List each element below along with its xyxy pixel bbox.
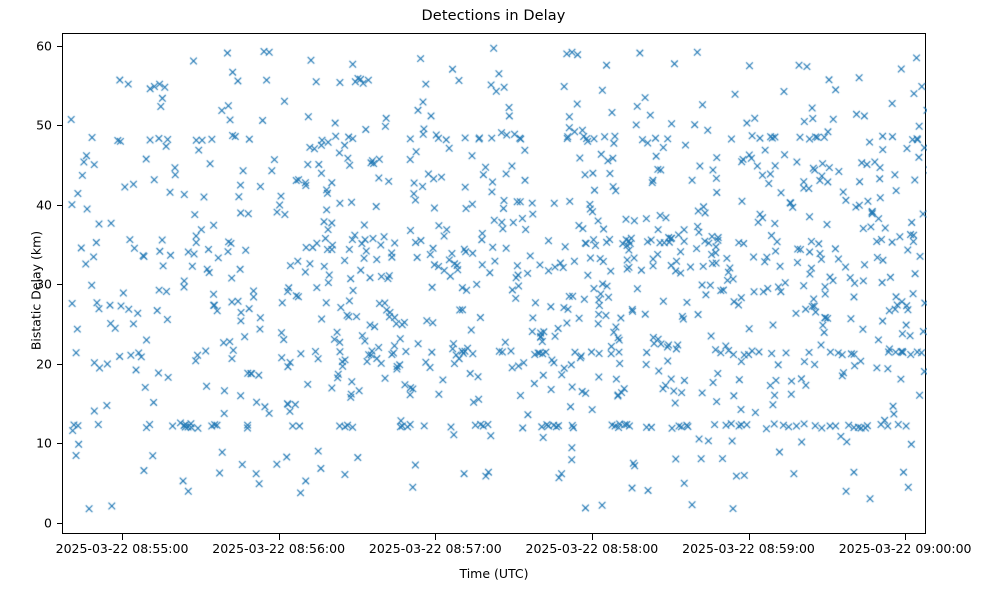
x-tick-label: 2025-03-22 08:55:00 <box>56 541 189 556</box>
x-tick-mark <box>592 534 593 540</box>
y-tick-label: 60 <box>36 38 52 53</box>
x-tick-mark <box>749 534 750 540</box>
y-axis-label: Bistatic Delay (km) <box>29 191 44 391</box>
x-tick-mark <box>905 534 906 540</box>
scatter-points-layer <box>63 34 927 535</box>
x-tick-mark <box>279 534 280 540</box>
x-tick-mark <box>122 534 123 540</box>
y-tick-label: 0 <box>44 515 52 530</box>
y-tick-label: 10 <box>36 436 52 451</box>
x-tick-mark <box>435 534 436 540</box>
x-tick-label: 2025-03-22 08:58:00 <box>525 541 658 556</box>
chart-title: Detections in Delay <box>0 8 987 24</box>
matplotlib-figure: Detections in Delay 0102030405060 2025-0… <box>0 0 987 590</box>
x-axis-label: Time (UTC) <box>62 566 926 581</box>
x-tick-label: 2025-03-22 08:56:00 <box>212 541 345 556</box>
x-tick-label: 2025-03-22 08:59:00 <box>682 541 815 556</box>
x-tick-label: 2025-03-22 09:00:00 <box>839 541 972 556</box>
plot-area <box>62 33 926 534</box>
y-axis-tick-labels: 0102030405060 <box>0 0 52 590</box>
x-tick-label: 2025-03-22 08:57:00 <box>369 541 502 556</box>
y-tick-label: 50 <box>36 118 52 133</box>
